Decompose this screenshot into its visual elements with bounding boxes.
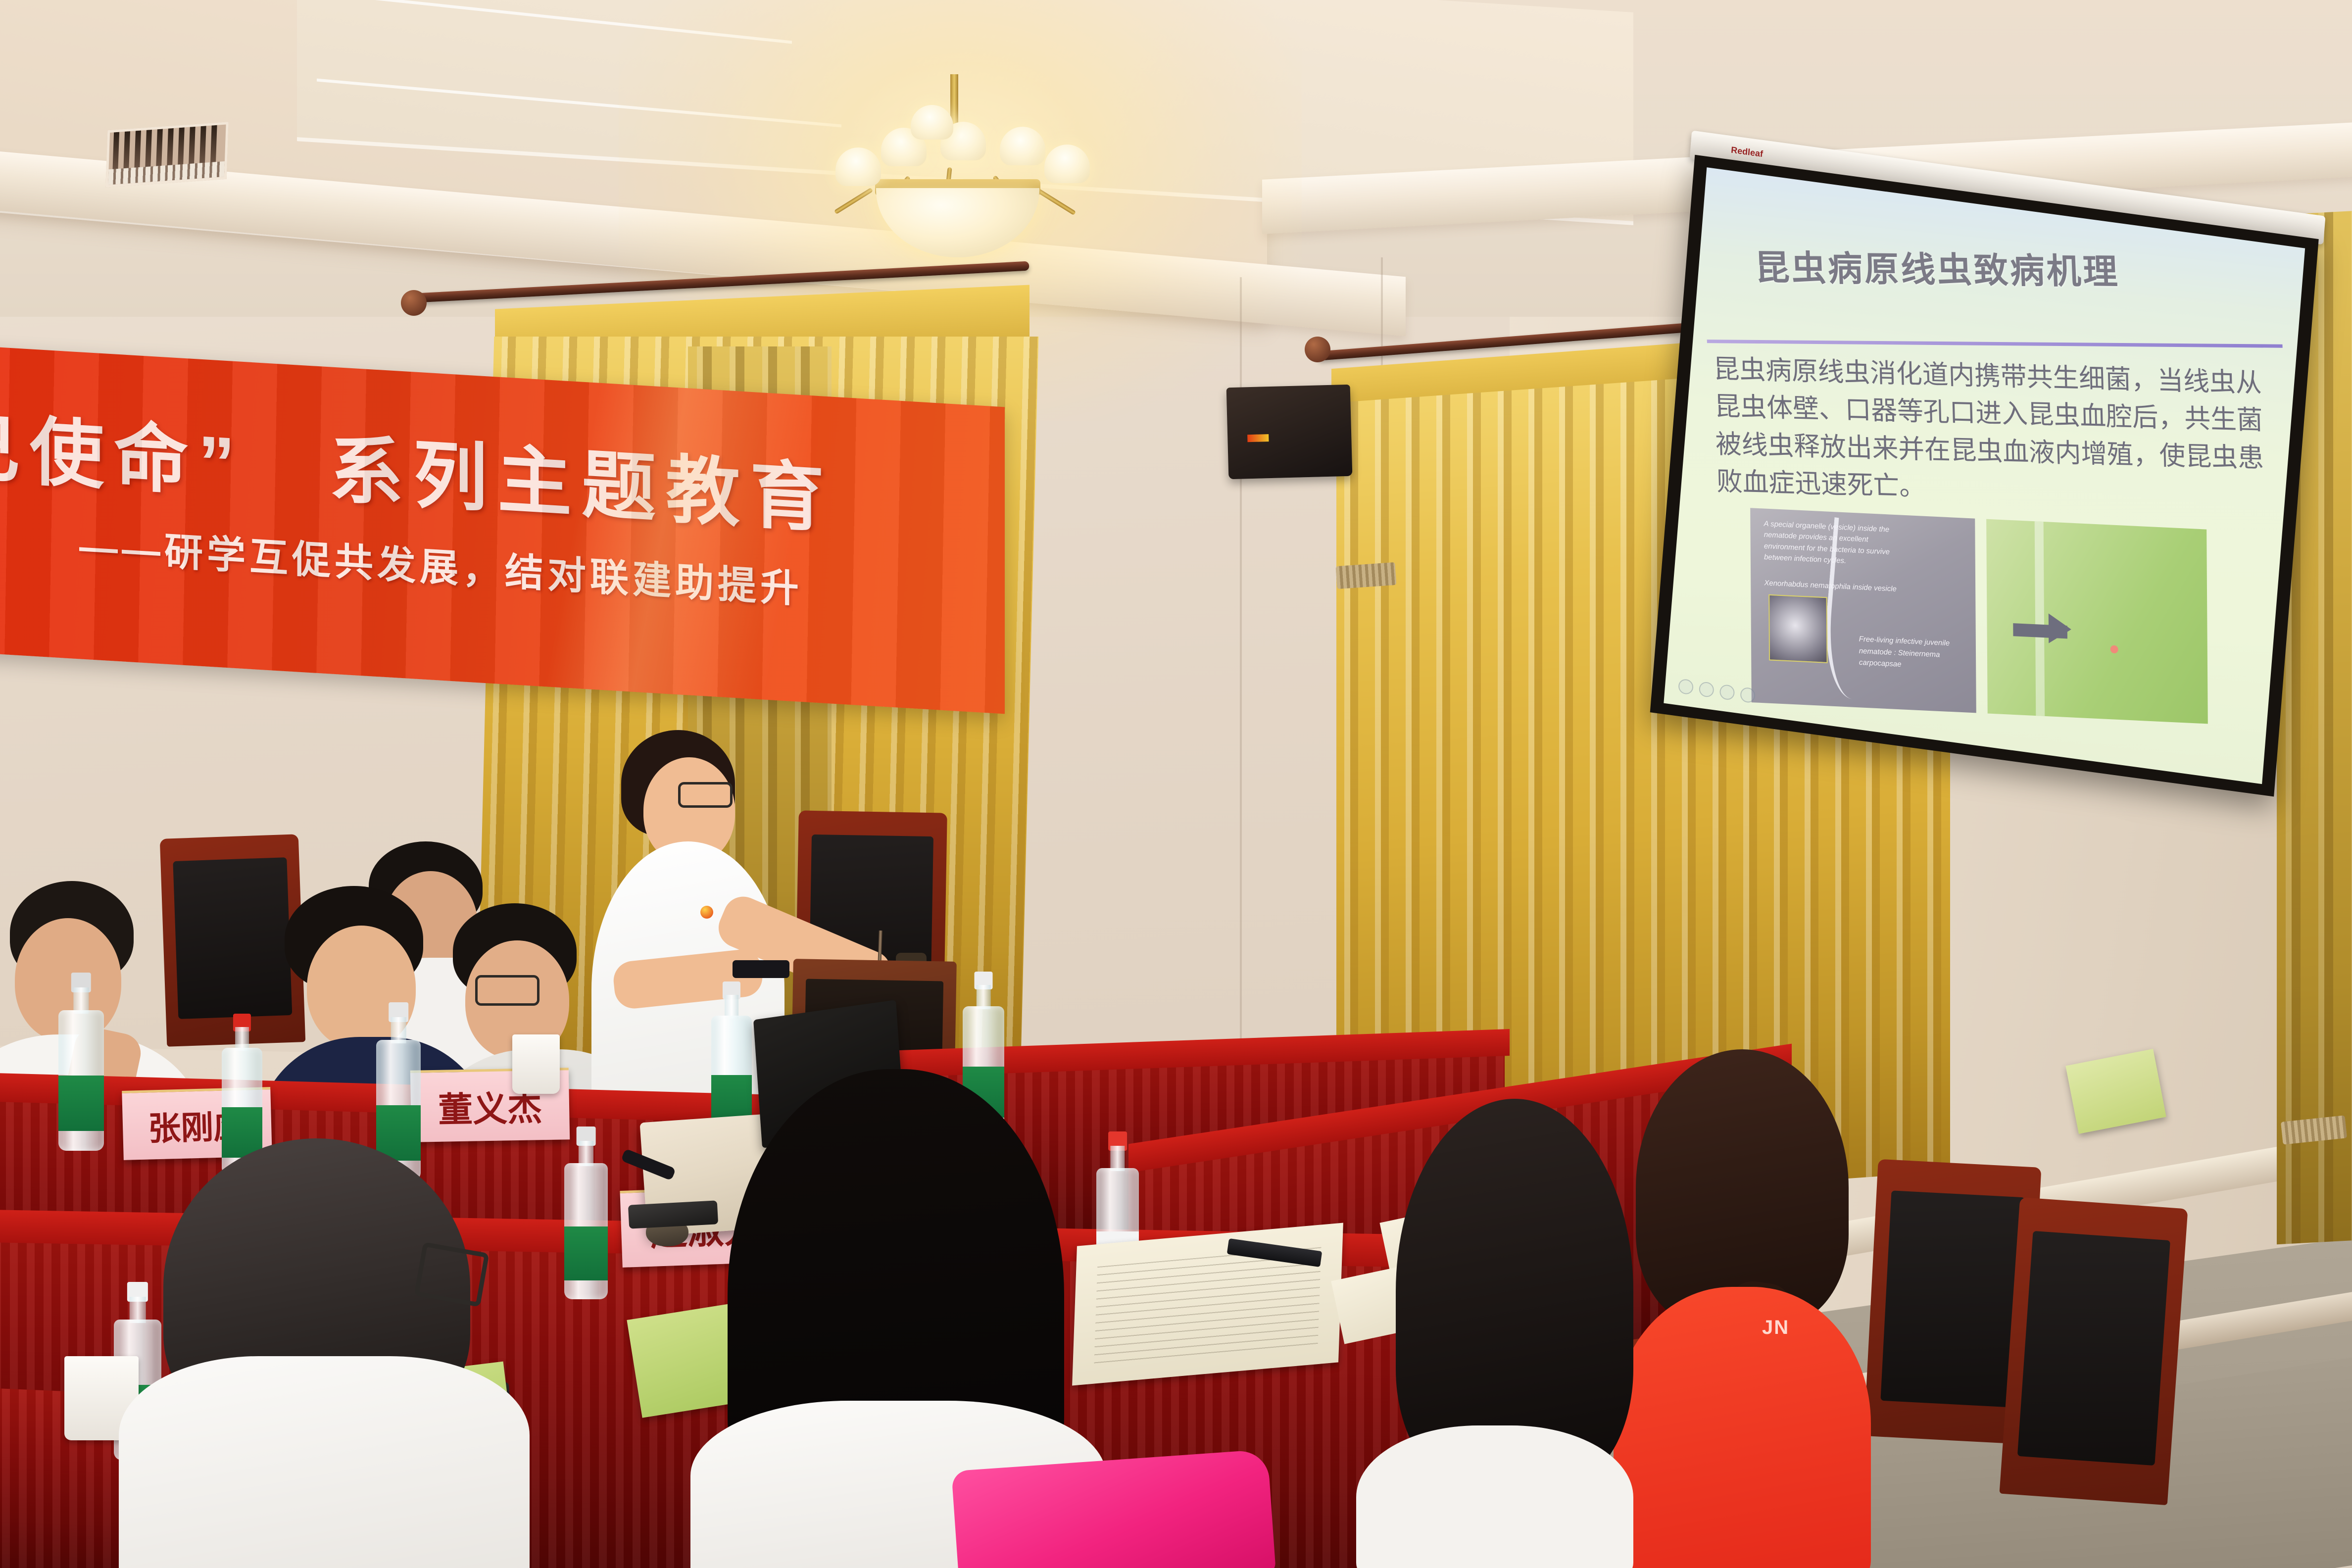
slide-surface: 昆虫病原线虫致病机理 昆虫病原线虫消化道内携带共生细菌，当线虫从昆虫体壁、口器等… [1664,167,2305,784]
slide-figure-right [1986,519,2207,724]
chair-right-2[interactable] [1999,1197,2188,1505]
projection-screen: Redleaf 昆虫病原线虫致病机理 昆虫病原线虫消化道内携带共生细菌，当线虫从… [1646,155,2349,850]
air-vent-icon [105,122,228,188]
chandelier [787,74,1133,287]
slide-figure-left: A special organelle (vesicle) inside the… [1751,508,1976,713]
curtain-tassel-1 [1336,562,1397,589]
arrow-icon [2049,613,2071,644]
glasses-icon [475,975,539,1006]
slide-accent-rule [1707,340,2283,348]
screen-frame: 昆虫病原线虫致病机理 昆虫病原线虫消化道内携带共生细菌，当线虫从昆虫体壁、口器等… [1650,155,2319,797]
chandelier-arm-5 [1037,189,1076,215]
nematode-illustration-icon [1820,517,1902,704]
slide-body-text: 昆虫病原线虫消化道内携带共生细菌，当线虫从昆虫体壁、口器等孔口进入昆虫血腔后，共… [1713,350,2269,514]
powerpoint-nav-controls[interactable] [1678,679,1756,704]
presenter-glasses-icon [678,782,733,808]
presentation-remote[interactable] [733,960,789,978]
party-badge-pin-icon [700,906,713,919]
red-banner: 己使命” 系列主题教育 ——研学互促共发展，结对联建助提升 [0,345,1005,714]
paper-cup-2[interactable] [512,1034,560,1094]
chandelier-shade-4 [1000,127,1045,165]
ppt-next-icon[interactable] [1740,686,1756,703]
vesicle-micrograph-inset [1769,594,1828,663]
chandelier-shade-1 [835,147,881,186]
laser-pointer-dot [2110,645,2118,654]
speaker-led-icon [1247,434,1269,442]
jn-logo: JN [1762,1317,1789,1339]
curtain-rod-knob-right [1305,337,1330,362]
chair-back-left-1[interactable] [160,834,305,1047]
ppt-menu-icon[interactable] [1678,679,1694,695]
slide-figures: A special organelle (vesicle) inside the… [1751,508,2208,724]
chandelier-arm-1 [834,188,873,214]
front-attendee-glasses-icon [414,1242,489,1307]
ppt-pen-icon[interactable] [1719,684,1735,701]
conference-room-photo: 己使命” 系列主题教育 ——研学互促共发展，结对联建助提升 Redleaf 昆虫… [0,0,2352,1568]
open-notebook[interactable] [1072,1223,1343,1386]
slide-title: 昆虫病原线虫致病机理 [1754,240,2120,294]
ppt-prev-icon[interactable] [1698,681,1714,698]
water-bottle-6[interactable] [564,1141,608,1299]
mobile-phone[interactable] [628,1200,718,1228]
screen-brand-label: Redleaf [1731,145,1764,160]
wall-speaker [1226,385,1353,479]
chandelier-shade-5 [1044,145,1090,183]
figure-left-caption-bottom: Free-living infective juvenile nematode … [1859,634,1967,673]
chandelier-shade-6 [911,105,953,140]
water-bottle-1[interactable] [58,987,104,1151]
curtain-rod-knob-left [401,290,427,316]
chandelier-bowl [876,188,1039,257]
